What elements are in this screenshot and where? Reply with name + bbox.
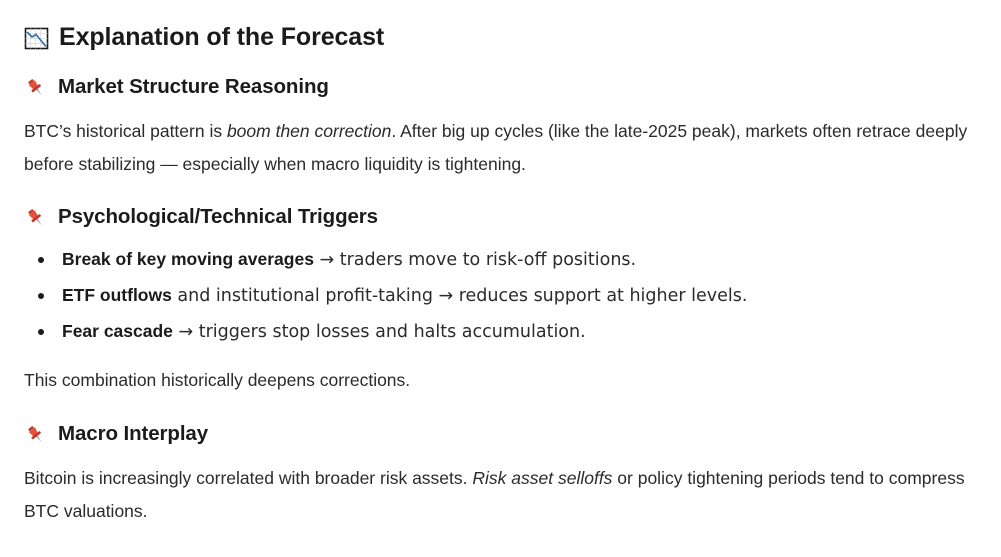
list-item-strong: Break of key moving averages [62,249,314,269]
paragraph-text-part1: Bitcoin is increasingly correlated with … [24,468,472,488]
list-item-text: and institutional profit-taking → reduce… [172,286,748,306]
paragraph-combination: This combination historically deepens co… [24,364,976,397]
paragraph-emphasis: boom then correction [227,121,391,141]
list-item-strong: ETF outflows [62,285,172,305]
document-root: Explanation of the Forecast Market Struc… [0,0,1001,557]
paragraph-macro-interplay: Bitcoin is increasingly correlated with … [24,462,976,528]
list-item-strong: Fear cascade [62,321,173,341]
list-item: Break of key moving averages → traders m… [24,242,977,278]
section-heading-text: Market Structure Reasoning [58,72,329,102]
pushpin-icon [24,76,48,100]
section-heading-text: Macro Interplay [58,419,208,449]
paragraph-emphasis: Risk asset selloffs [472,468,612,488]
pushpin-icon [24,423,48,447]
chart-decreasing-icon [24,26,49,51]
page-title-text: Explanation of the Forecast [59,20,384,54]
page-title: Explanation of the Forecast [24,0,977,54]
section-heading-psych-technical: Psychological/Technical Triggers [24,202,977,232]
list-item: Fear cascade → triggers stop losses and … [24,314,977,350]
section-heading-text: Psychological/Technical Triggers [58,202,378,232]
list-item-text: → traders move to risk-off positions. [314,250,636,270]
list-item-text: → triggers stop losses and halts accumul… [173,322,586,342]
trigger-list: Break of key moving averages → traders m… [24,242,977,350]
section-heading-market-structure: Market Structure Reasoning [24,72,977,102]
section-heading-macro-interplay: Macro Interplay [24,419,977,449]
pushpin-icon [24,206,48,230]
paragraph-market-structure: BTC’s historical pattern is boom then co… [24,115,976,181]
list-item: ETF outflows and institutional profit-ta… [24,278,977,314]
paragraph-text-part1: BTC’s historical pattern is [24,121,227,141]
